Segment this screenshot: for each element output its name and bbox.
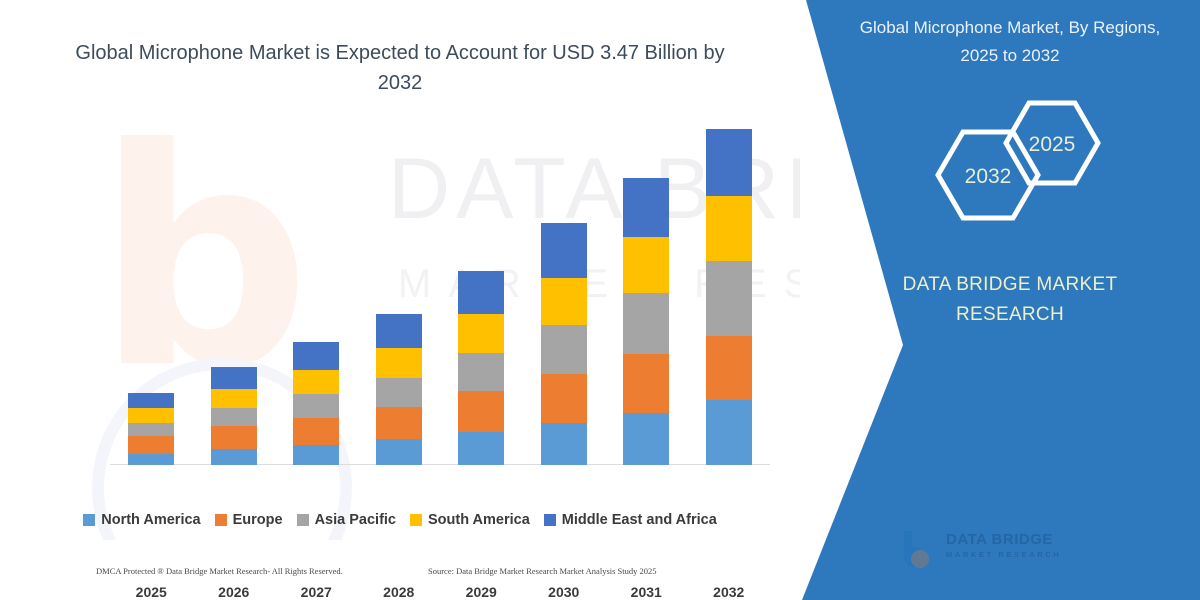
bar-segment-2030-europe <box>541 374 587 423</box>
hexagon-2025-label: 2025 <box>1029 133 1076 156</box>
logo-tagline: MARKET RESEARCH <box>946 550 1061 559</box>
chart-title: Global Microphone Market is Expected to … <box>60 38 740 98</box>
bar-2030[interactable] <box>541 223 587 465</box>
bar-segment-2031-europe <box>623 354 669 413</box>
hexagon-2032-label: 2032 <box>965 165 1012 188</box>
hexagon-badges: 2032 2025 <box>820 100 1200 235</box>
bar-segment-2030-south-america <box>541 278 587 325</box>
bar-segment-2028-south-america <box>376 348 422 378</box>
bar-segment-2025-europe <box>128 436 174 454</box>
bar-segment-2028-middle-east-and-africa <box>376 314 422 347</box>
bar-segment-2030-middle-east-and-africa <box>541 223 587 278</box>
bar-segment-2026-europe <box>211 426 257 449</box>
legend-label: Asia Pacific <box>315 512 396 528</box>
legend-swatch <box>83 514 95 526</box>
legend-item-middle-east-and-africa[interactable]: Middle East and Africa <box>544 512 717 528</box>
bar-2025[interactable] <box>128 393 174 465</box>
bar-segment-2028-north-america <box>376 439 422 465</box>
chart-legend: North AmericaEuropeAsia PacificSouth Ame… <box>0 512 800 528</box>
bar-2026[interactable] <box>211 367 257 465</box>
bar-segment-2027-europe <box>293 418 339 445</box>
bar-segment-2032-asia-pacific <box>706 261 752 336</box>
legend-item-asia-pacific[interactable]: Asia Pacific <box>297 512 396 528</box>
side-panel-title: Global Microphone Market, By Regions, 20… <box>840 14 1180 70</box>
bar-segment-2029-europe <box>458 391 504 432</box>
bar-segment-2031-north-america <box>623 413 669 465</box>
bar-segment-2027-north-america <box>293 445 339 465</box>
logo-name: DATA BRIDGE <box>946 531 1053 548</box>
bar-segment-2027-asia-pacific <box>293 394 339 418</box>
legend-item-north-america[interactable]: North America <box>83 512 200 528</box>
bar-segment-2028-asia-pacific <box>376 378 422 407</box>
legend-label: South America <box>428 512 530 528</box>
logo-bridge-icon <box>898 529 938 571</box>
bar-segment-2031-south-america <box>623 237 669 293</box>
bar-segment-2026-north-america <box>211 449 257 465</box>
bar-segment-2025-asia-pacific <box>128 423 174 436</box>
legend-swatch <box>215 514 227 526</box>
bar-segment-2030-asia-pacific <box>541 325 587 373</box>
brand-wordmark: DATA BRIDGE MARKET RESEARCH <box>830 270 1190 330</box>
legend-swatch <box>544 514 556 526</box>
bar-2027[interactable] <box>293 342 339 465</box>
legend-item-south-america[interactable]: South America <box>410 512 530 528</box>
bar-segment-2025-middle-east-and-africa <box>128 393 174 408</box>
bar-segment-2032-north-america <box>706 400 752 465</box>
legend-swatch <box>297 514 309 526</box>
legend-item-europe[interactable]: Europe <box>215 512 283 528</box>
bar-segment-2029-asia-pacific <box>458 353 504 391</box>
bar-segment-2026-south-america <box>211 389 257 408</box>
x-axis-line <box>110 464 770 465</box>
company-logo: DATA BRIDGE MARKET RESEARCH <box>898 525 1118 577</box>
infographic-root: b DATA BRIDGE MARKET RESEARCH Global Mic… <box>0 0 1200 600</box>
legend-label: North America <box>101 512 200 528</box>
bar-segment-2032-europe <box>706 336 752 401</box>
bar-segment-2032-middle-east-and-africa <box>706 129 752 196</box>
bar-segment-2026-middle-east-and-africa <box>211 367 257 389</box>
bar-segment-2026-asia-pacific <box>211 408 257 426</box>
bar-segment-2029-middle-east-and-africa <box>458 271 504 314</box>
bar-2029[interactable] <box>458 271 504 465</box>
bar-2032[interactable] <box>706 129 752 465</box>
bar-segment-2028-europe <box>376 407 422 439</box>
bar-segment-2030-north-america <box>541 423 587 465</box>
legend-label: Europe <box>233 512 283 528</box>
side-panel: Global Microphone Market, By Regions, 20… <box>820 0 1200 600</box>
brand-line-1: DATA BRIDGE MARKET <box>830 270 1190 300</box>
brand-line-2: RESEARCH <box>830 300 1190 330</box>
bar-segment-2031-asia-pacific <box>623 293 669 354</box>
bar-segment-2025-north-america <box>128 454 174 465</box>
bar-segment-2029-north-america <box>458 432 504 465</box>
bar-2028[interactable] <box>376 314 422 465</box>
bar-segment-2027-south-america <box>293 370 339 394</box>
legend-label: Middle East and Africa <box>562 512 717 528</box>
chart-panel: b DATA BRIDGE MARKET RESEARCH Global Mic… <box>0 0 800 600</box>
bar-segment-2032-south-america <box>706 196 752 261</box>
footer-copyright: DMCA Protected ® Data Bridge Market Rese… <box>96 566 343 576</box>
x-tick-2032: 2032 <box>679 584 779 600</box>
bar-segment-2029-south-america <box>458 314 504 353</box>
bar-segment-2025-south-america <box>128 408 174 423</box>
bar-segment-2031-middle-east-and-africa <box>623 178 669 237</box>
bar-segment-2027-middle-east-and-africa <box>293 342 339 370</box>
footer-source: Source: Data Bridge Market Research Mark… <box>428 566 657 576</box>
legend-swatch <box>410 514 422 526</box>
bar-2031[interactable] <box>623 178 669 465</box>
stacked-bar-chart: 20252026202720282029203020312032 <box>110 110 770 465</box>
